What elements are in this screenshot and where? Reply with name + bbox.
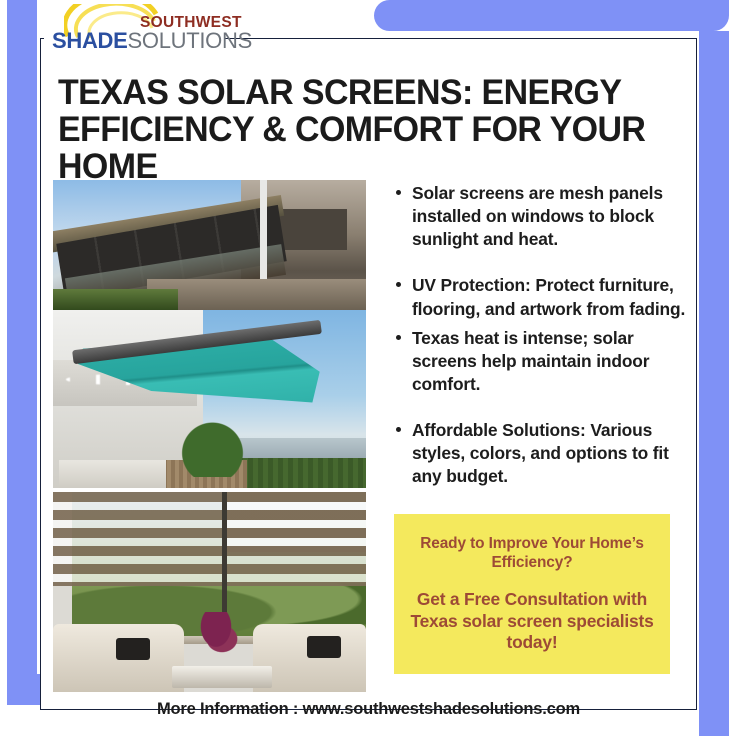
photo-column [53, 180, 366, 692]
page-title: TEXAS SOLAR SCREENS: ENERGY EFFICIENCY &… [58, 74, 664, 185]
pillow-right [307, 636, 341, 658]
photo-exterior-solar-screens [53, 180, 366, 310]
frame-bar-left [7, 0, 37, 705]
logo-text-solutions: SOLUTIONS [128, 28, 252, 53]
footer-website[interactable]: More Information : www.southwestshadesol… [40, 700, 697, 719]
cta-box[interactable]: Ready to Improve Your Home’s Efficiency?… [394, 514, 670, 674]
list-item: Affordable Solutions: Various styles, co… [394, 419, 690, 488]
foliage [53, 289, 178, 310]
list-item: Texas heat is intense; solar screens hel… [394, 327, 690, 396]
flower-arrangement [191, 612, 241, 660]
patio-furniture [59, 460, 165, 488]
list-item: UV Protection: Protect furniture, floori… [394, 274, 690, 320]
cta-action-text: Get a Free Consultation with Texas solar… [394, 589, 670, 653]
photo-interior-zebra-shades [53, 492, 366, 692]
zebra-shade-right [225, 492, 366, 552]
cta-headline: Ready to Improve Your Home’s Efficiency? [394, 535, 670, 573]
logo-text-shade: SHADE [52, 28, 128, 53]
pillow-left [116, 638, 150, 660]
list-item: Solar screens are mesh panels installed … [394, 182, 690, 251]
coffee-table [172, 666, 272, 688]
stone-base [147, 279, 366, 310]
frame-accent-top-right [374, 0, 729, 31]
benefits-list: Solar screens are mesh panels installed … [394, 182, 690, 489]
frame-bar-right [699, 31, 729, 736]
tree [178, 417, 247, 478]
photo-teal-retractable-awning [53, 310, 366, 488]
brand-logo[interactable]: SOUTHWEST SHADESOLUTIONS [44, 2, 224, 50]
logo-text-wordmark: SHADESOLUTIONS [52, 28, 252, 54]
